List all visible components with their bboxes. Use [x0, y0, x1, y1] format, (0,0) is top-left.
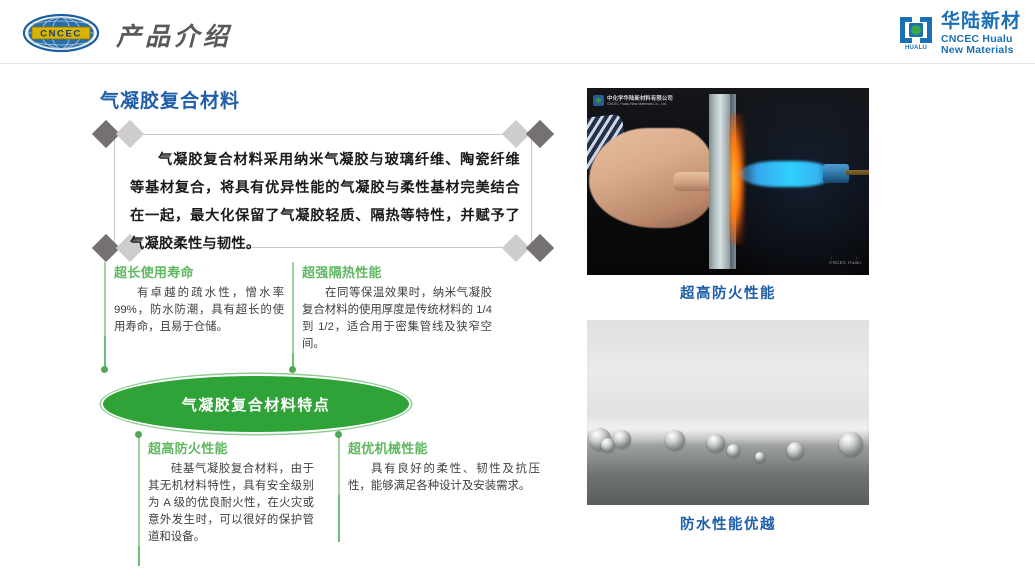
connector-node-long-life — [101, 366, 108, 373]
corner-watermark-text: CNCEC Hualu — [829, 260, 861, 265]
watermark-badge-icon — [593, 95, 604, 106]
connector-node-mechanical — [335, 431, 342, 438]
hualu-mark-icon: HUALU — [897, 15, 935, 53]
photo-fire-test: 中化学华陆新材料有限公司 CNCEC Hualu New Materials C… — [587, 88, 869, 275]
feature-thermal-insulation: 超强隔热性能 在同等保温效果时，纳米气凝胶复合材料的使用厚度是传统材料的 1/4… — [292, 262, 492, 353]
feature-body: 在同等保温效果时，纳米气凝胶复合材料的使用厚度是传统材料的 1/4 到 1/2，… — [302, 285, 492, 353]
header-divider — [0, 63, 1035, 64]
feature-body: 有卓越的疏水性，憎水率99%，防水防潮，具有超长的使用寿命，且易于仓储。 — [114, 285, 284, 336]
water-droplet — [839, 432, 863, 456]
hualu-mark-label: HUALU — [897, 45, 935, 51]
feature-body: 硅基气凝胶复合材料，由于其无机材料特性，具有安全级别为 A 级的优良耐火性，在火… — [148, 461, 314, 546]
water-droplet — [727, 444, 740, 457]
feature-title: 超强隔热性能 — [302, 262, 492, 281]
fire-photo-torch-rod — [846, 170, 869, 175]
slide-header: CNCEC 产品介绍 HUALU 华陆新材 CNCEC Hualu New Ma… — [0, 0, 1035, 64]
hualu-chinese-name: 华陆新材 — [941, 12, 1021, 32]
svg-text:CNCEC: CNCEC — [40, 28, 82, 39]
diagram-center-ellipse: 气凝胶复合材料特点 — [101, 374, 411, 434]
features-diagram: 超长使用寿命 有卓越的疏水性，憎水率99%，防水防潮，具有超长的使用寿命，且易于… — [96, 262, 556, 572]
feature-title: 超高防火性能 — [148, 438, 314, 457]
watermark-chinese: 中化学华陆新材料有限公司 — [607, 94, 673, 102]
connector-node-thermal — [289, 366, 296, 373]
feature-accent-bar — [138, 438, 140, 546]
water-droplet — [787, 442, 804, 459]
feature-body: 具有良好的柔性、韧性及抗压性，能够满足各种设计及安装需求。 — [348, 461, 540, 495]
feature-accent-bar — [104, 262, 106, 336]
caption-fire-test: 超高防火性能 — [587, 282, 869, 303]
feature-title: 超长使用寿命 — [114, 262, 284, 281]
slide-canvas: CNCEC 产品介绍 HUALU 华陆新材 CNCEC Hualu New Ma… — [0, 0, 1035, 584]
caption-water-repellency: 防水性能优越 — [587, 513, 869, 534]
hualu-english-line2: New Materials — [941, 45, 1021, 56]
diagram-center-label: 气凝胶复合材料特点 — [182, 394, 331, 415]
feature-accent-bar — [292, 262, 294, 353]
water-droplet — [613, 430, 631, 448]
hualu-wordmark: 华陆新材 CNCEC Hualu New Materials — [941, 12, 1021, 56]
water-droplet — [755, 452, 765, 462]
feature-accent-bar — [338, 438, 340, 495]
fire-photo-blue-flame — [739, 161, 831, 187]
fire-photo-watermark: 中化学华陆新材料有限公司 CNCEC Hualu New Materials C… — [593, 94, 673, 106]
connector-node-fire — [135, 431, 142, 438]
intro-paragraph: 气凝胶复合材料采用纳米气凝胶与玻璃纤维、陶瓷纤维等基材复合，将具有优异性能的气凝… — [130, 146, 520, 258]
photo-water-repellency — [587, 320, 869, 505]
feature-fire-resistance: 超高防火性能 硅基气凝胶复合材料，由于其无机材料特性，具有安全级别为 A 级的优… — [138, 438, 314, 546]
water-droplet — [665, 430, 685, 450]
feature-long-life: 超长使用寿命 有卓越的疏水性，憎水率99%，防水防潮，具有超长的使用寿命，且易于… — [104, 262, 284, 336]
feature-title: 超优机械性能 — [348, 438, 540, 457]
intro-textbox: 气凝胶复合材料采用纳米气凝胶与玻璃纤维、陶瓷纤维等基材复合，将具有优异性能的气凝… — [96, 124, 550, 258]
feature-mechanical-performance: 超优机械性能 具有良好的柔性、韧性及抗压性，能够满足各种设计及安装需求。 — [338, 438, 540, 495]
page-title: 产品介绍 — [116, 17, 232, 53]
watermark-english: CNCEC Hualu New Materials Co., Ltd. — [607, 102, 673, 106]
water-droplet — [707, 434, 725, 452]
hualu-brand-logo: HUALU 华陆新材 CNCEC Hualu New Materials — [897, 12, 1021, 56]
cncec-globe-logo: CNCEC — [22, 13, 100, 53]
section-title: 气凝胶复合材料 — [100, 86, 240, 113]
